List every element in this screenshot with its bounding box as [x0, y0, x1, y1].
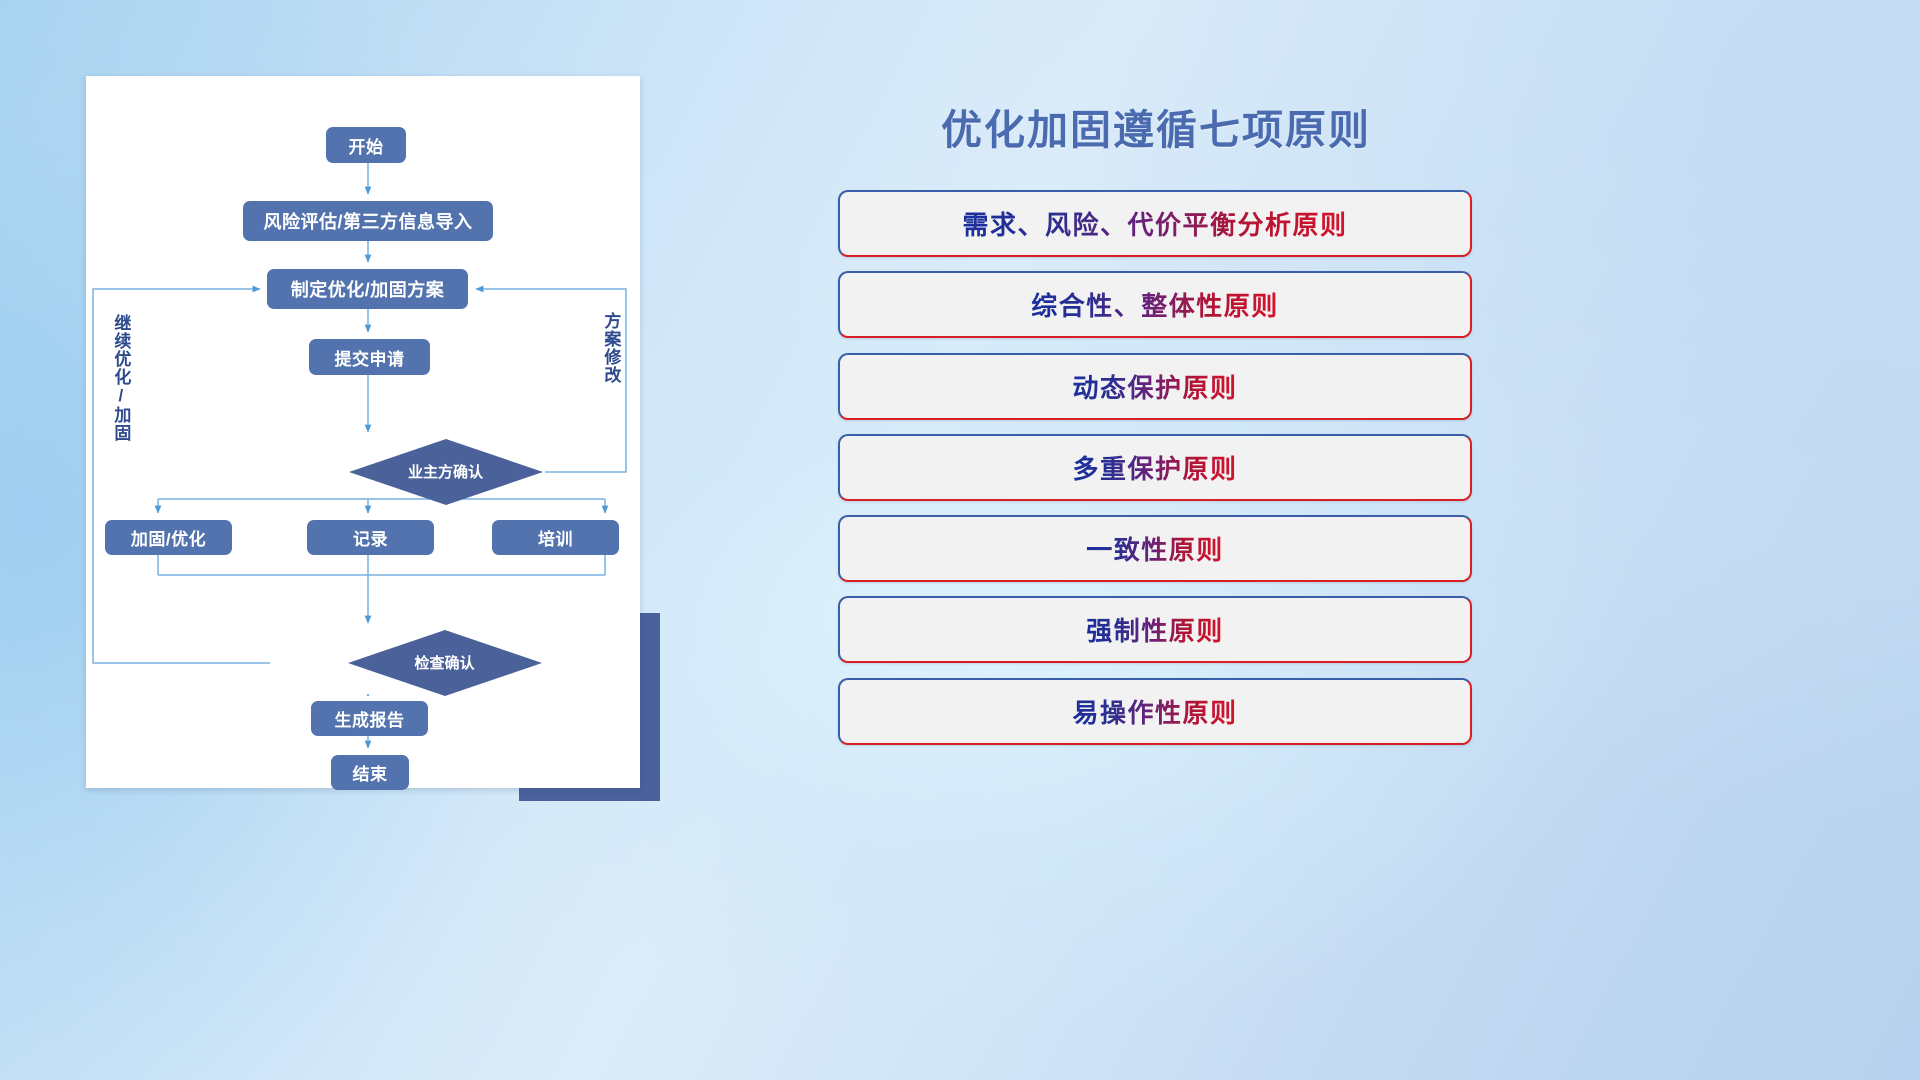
flow-node-check-confirm-label: 检查确认 — [347, 647, 542, 677]
flow-node-generate-report[interactable]: 生成报告 — [311, 701, 428, 736]
principle-card-label: 综合性、整体性原则 — [1031, 286, 1279, 323]
flow-edge-label-plan-revision: 方案修改 — [602, 312, 619, 384]
principle-card[interactable]: 易操作性原则 — [838, 678, 1472, 745]
flow-node-make-plan[interactable]: 制定优化/加固方案 — [267, 269, 468, 309]
flow-node-end[interactable]: 结束 — [331, 755, 409, 790]
principle-card[interactable]: 强制性原则 — [838, 596, 1472, 663]
flow-node-record[interactable]: 记录 — [307, 520, 434, 555]
flow-edge-label-continue-optimize: 继续优化/加固 — [112, 314, 129, 442]
flow-node-reinforce-optimize[interactable]: 加固/优化 — [105, 520, 232, 555]
principle-card[interactable]: 综合性、整体性原则 — [838, 271, 1472, 338]
principle-card-label: 动态保护原则 — [1072, 368, 1237, 405]
principle-card-label: 一致性原则 — [1086, 530, 1224, 567]
principle-card-label: 易操作性原则 — [1072, 693, 1237, 730]
principle-card-label: 需求、风险、代价平衡分析原则 — [962, 205, 1347, 242]
flowchart-connectors — [86, 76, 640, 788]
panel-title: 优化加固遵循七项原则 — [836, 96, 1476, 156]
flow-node-submit-application[interactable]: 提交申请 — [309, 339, 430, 375]
slide-root: 开始 风险评估/第三方信息导入 制定优化/加固方案 提交申请 业主方确认 加固/… — [0, 0, 1920, 1080]
principle-card[interactable]: 一致性原则 — [838, 515, 1472, 582]
principle-card[interactable]: 动态保护原则 — [838, 353, 1472, 420]
flow-node-start[interactable]: 开始 — [326, 127, 406, 163]
principles-panel: 优化加固遵循七项原则 需求、风险、代价平衡分析原则 综合性、整体性原则 动态保护… — [836, 76, 1476, 816]
principles-list: 需求、风险、代价平衡分析原则 综合性、整体性原则 动态保护原则 多重保护原则 一… — [838, 190, 1474, 759]
principle-card[interactable]: 需求、风险、代价平衡分析原则 — [838, 190, 1472, 257]
flow-node-owner-confirm-label: 业主方确认 — [348, 456, 543, 486]
flow-node-training[interactable]: 培训 — [492, 520, 619, 555]
principle-card-label: 多重保护原则 — [1072, 449, 1237, 486]
principle-card-label: 强制性原则 — [1086, 611, 1224, 648]
principle-card[interactable]: 多重保护原则 — [838, 434, 1472, 501]
flow-node-risk-assessment[interactable]: 风险评估/第三方信息导入 — [243, 201, 493, 241]
